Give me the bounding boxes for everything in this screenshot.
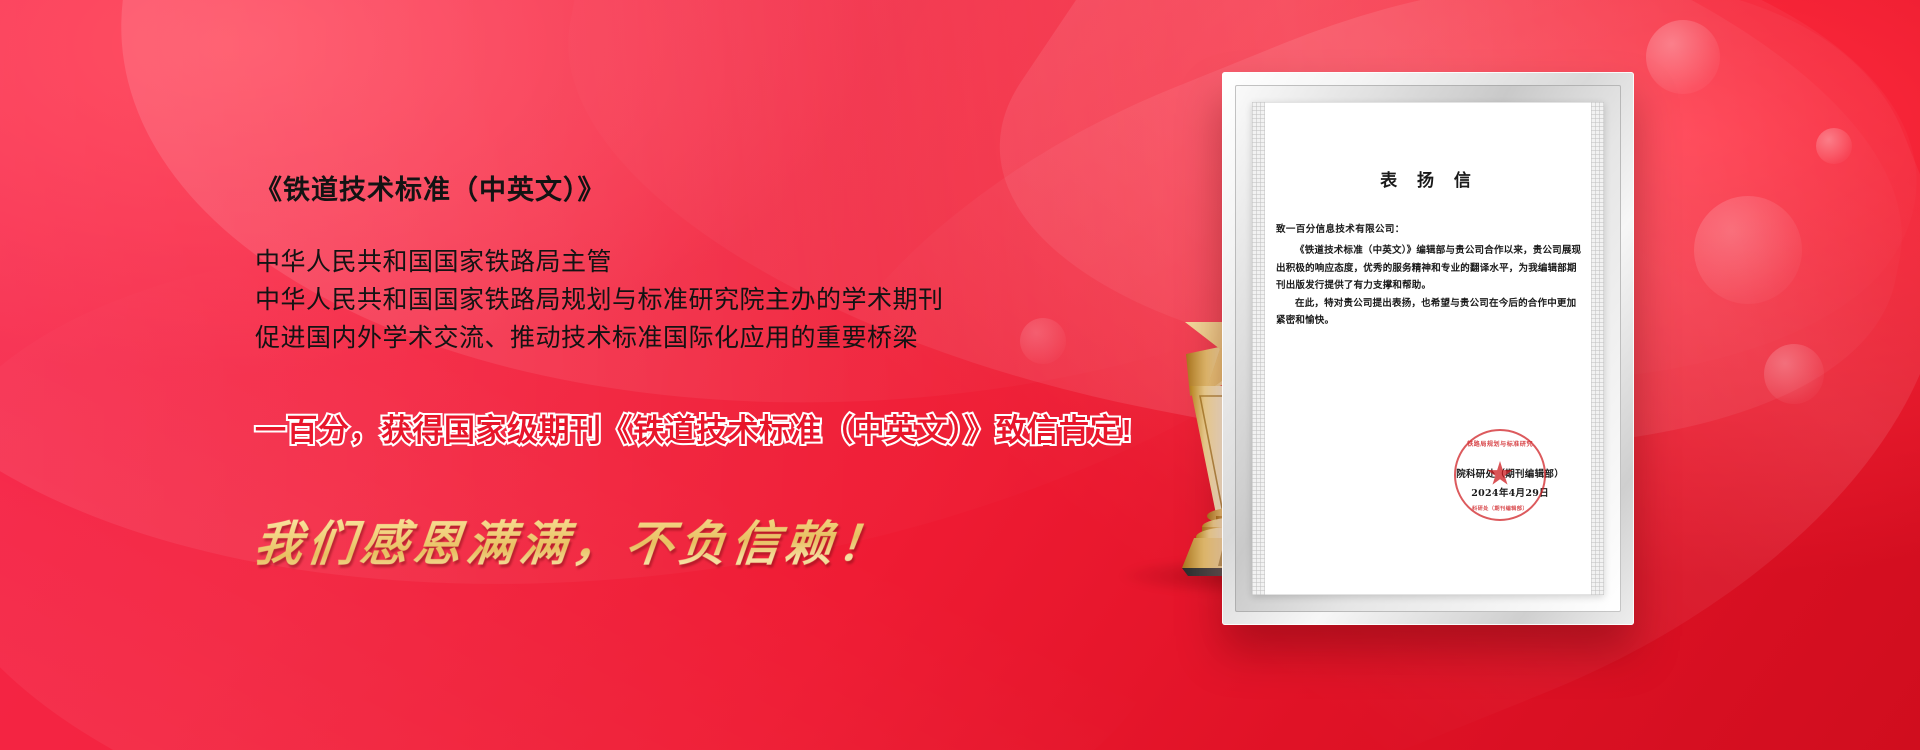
subtitle-line-2: 中华人民共和国国家铁路局规划与标准研究院主办的学术期刊 xyxy=(255,281,1215,319)
headline-text: 一百分，获得国家级期刊《铁道技术标准（中英文）》致信肯定! xyxy=(255,405,1215,450)
journal-title: 《铁道技术标准（中英文）》 xyxy=(255,168,1215,207)
certificate-paper: 表 扬 信 致一百分信息技术有限公司： 《铁道技术标准（中英文）》编辑部与贵公司… xyxy=(1252,102,1604,595)
slogan-calligraphy: 我们感恩满满，不负信赖！ xyxy=(251,504,1218,574)
letter-paragraph-2: 在此，特对贵公司提出表扬，也希望与贵公司在今后的合作中更加紧密和愉快。 xyxy=(1276,295,1582,330)
paper-texture-left xyxy=(1252,102,1265,595)
paper-texture-right xyxy=(1591,102,1604,595)
decorative-bubble xyxy=(1816,128,1852,164)
decorative-bubble xyxy=(1694,196,1802,304)
subtitle-line-3: 促进国内外学术交流、推动技术标准国际化应用的重要桥梁 xyxy=(255,319,1215,357)
seal-bottom-text: 科研处（期刊编辑部） xyxy=(1456,505,1544,512)
award-banner: 《铁道技术标准（中英文）》 中华人民共和国国家铁路局主管 中华人民共和国国家铁路… xyxy=(0,0,1920,750)
decorative-bubble xyxy=(1646,20,1720,94)
letter-content: 表 扬 信 致一百分信息技术有限公司： 《铁道技术标准（中英文）》编辑部与贵公司… xyxy=(1276,124,1582,581)
subtitle-line-1: 中华人民共和国国家铁路局主管 xyxy=(255,243,1215,281)
letter-salutation: 致一百分信息技术有限公司： xyxy=(1276,221,1582,235)
seal-top-text: 铁路局规划与标准研究 xyxy=(1456,439,1544,448)
signature-date: 2024年4月29日 xyxy=(1456,484,1564,503)
decorative-bubble xyxy=(1764,344,1824,404)
certificate-frame: 表 扬 信 致一百分信息技术有限公司： 《铁道技术标准（中英文）》编辑部与贵公司… xyxy=(1222,72,1634,625)
letter-paragraph-1: 《铁道技术标准（中英文）》编辑部与贵公司合作以来，贵公司展现出积极的响应态度，优… xyxy=(1276,242,1582,295)
banner-copy-block: 《铁道技术标准（中英文）》 中华人民共和国国家铁路局主管 中华人民共和国国家铁路… xyxy=(255,168,1215,574)
signature-organization: 院科研处（期刊编辑部） xyxy=(1456,465,1564,484)
letter-title: 表 扬 信 xyxy=(1276,166,1582,191)
signature-block: 院科研处（期刊编辑部） 2024年4月29日 xyxy=(1456,465,1564,503)
